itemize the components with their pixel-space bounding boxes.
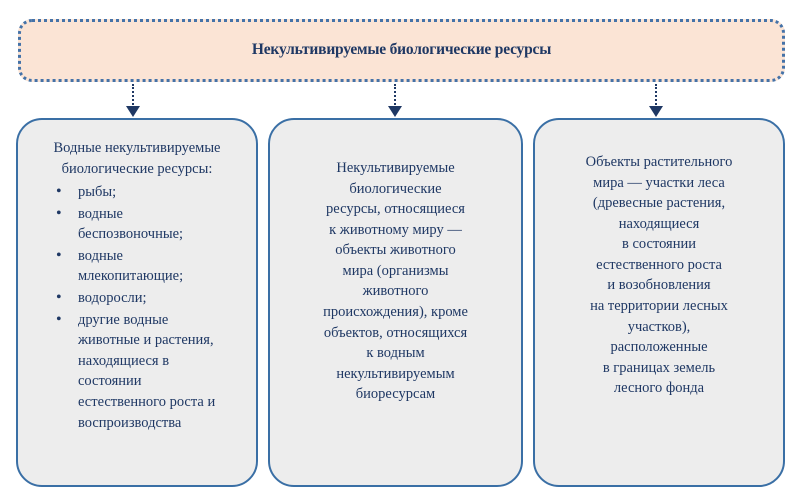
arrow-stem <box>394 84 396 108</box>
diagram-root-node: Некультивируемые биологические ресурсы <box>18 19 785 82</box>
diagram-root-node-label: Некультивируемые биологические ресурсы <box>252 41 551 60</box>
arrow-head <box>649 106 663 117</box>
node-paragraph-text: Объекты растительного мира — участки лес… <box>547 152 771 399</box>
node-paragraph-text: Некультивируемые биологические ресурсы, … <box>282 158 509 405</box>
arrow-stem <box>132 84 134 108</box>
arrow-stem <box>655 84 657 108</box>
list-item: водные млекопитающие; <box>30 246 244 287</box>
diagram-node-aquatic-resources: Водные некультивируемые биологические ре… <box>16 118 258 487</box>
diagram-node-fauna-resources: Некультивируемые биологические ресурсы, … <box>268 118 523 487</box>
list-item: другие водные животные и растения, наход… <box>30 310 244 433</box>
node-content: Объекты растительного мира — участки лес… <box>535 120 783 399</box>
list-item: водные беспозвоночные; <box>30 204 244 245</box>
arrow-head <box>126 106 140 117</box>
node-content: Водные некультивируемые биологические ре… <box>18 120 256 433</box>
diagram-canvas: Некультивируемые биологические ресурсы В… <box>0 0 804 502</box>
arrow-head <box>388 106 402 117</box>
node-content: Некультивируемые биологические ресурсы, … <box>270 120 521 405</box>
node-bullet-list: рыбы; водные беспозвоночные; водные млек… <box>30 182 244 433</box>
diagram-node-flora-resources: Объекты растительного мира — участки лес… <box>533 118 785 487</box>
list-item: водоросли; <box>30 288 244 309</box>
node-lead-text: Водные некультивируемые биологические ре… <box>30 138 244 179</box>
list-item: рыбы; <box>30 182 244 203</box>
